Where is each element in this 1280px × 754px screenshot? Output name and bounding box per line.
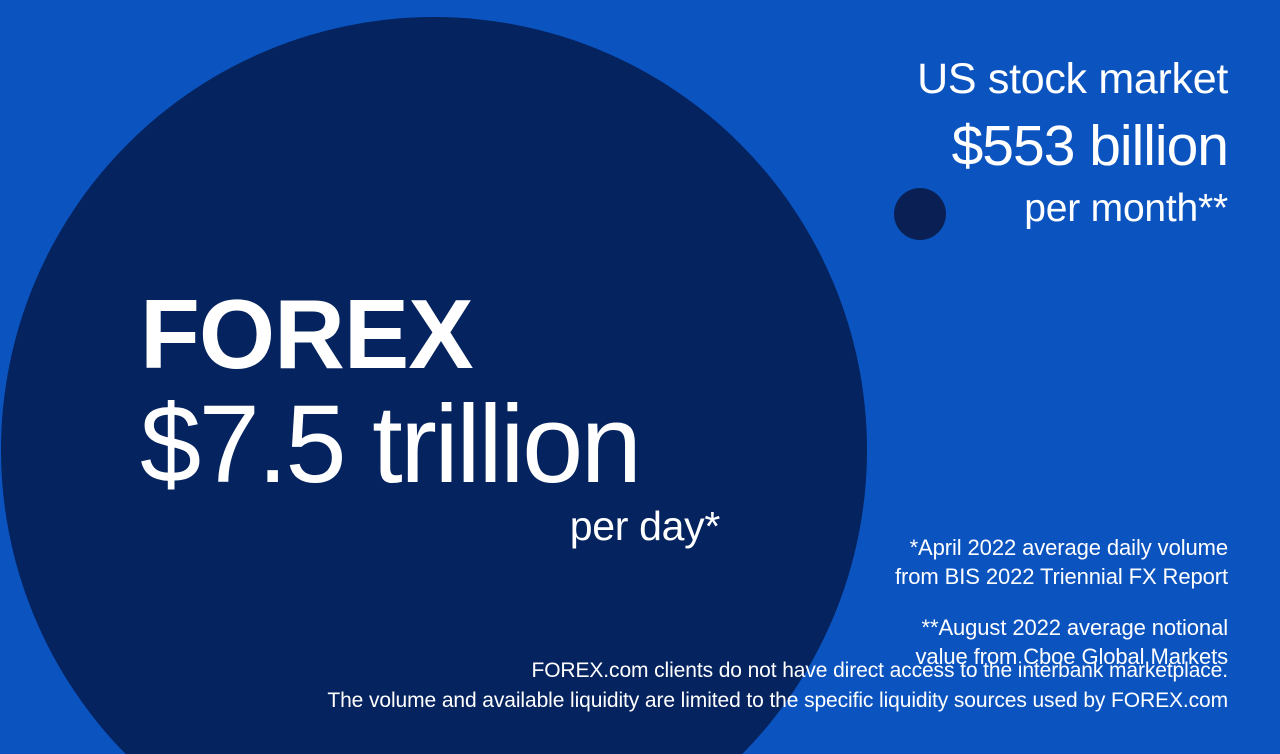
disclaimer: FOREX.com clients do not have direct acc… bbox=[0, 656, 1228, 717]
footnotes: *April 2022 average daily volume from BI… bbox=[708, 533, 1228, 671]
forex-block: FOREX $7.5 trillion per day* bbox=[140, 286, 720, 550]
us-stock-market-value: $553 billion bbox=[588, 115, 1228, 179]
footnote-notional-value-line1: **August 2022 average notional bbox=[708, 613, 1228, 642]
forex-volume-infographic: US stock market $553 billion per month**… bbox=[0, 0, 1280, 754]
forex-label: FOREX bbox=[140, 286, 720, 382]
circle-dot-icon bbox=[894, 188, 946, 240]
disclaimer-line-2: The volume and available liquidity are l… bbox=[0, 686, 1228, 716]
forex-value: $7.5 trillion bbox=[140, 386, 720, 505]
us-stock-market-title: US stock market bbox=[588, 58, 1228, 101]
us-stock-market-period-row: per month** bbox=[588, 185, 1228, 241]
footnote-daily-volume: *April 2022 average daily volume from BI… bbox=[708, 533, 1228, 591]
forex-period: per day* bbox=[140, 503, 720, 550]
disclaimer-line-1: FOREX.com clients do not have direct acc… bbox=[0, 656, 1228, 686]
footnote-daily-volume-line2: from BIS 2022 Triennial FX Report bbox=[708, 562, 1228, 591]
footnote-daily-volume-line1: *April 2022 average daily volume bbox=[708, 533, 1228, 562]
us-stock-market-block: US stock market $553 billion per month** bbox=[588, 58, 1228, 241]
us-stock-market-period: per month** bbox=[1024, 185, 1228, 234]
